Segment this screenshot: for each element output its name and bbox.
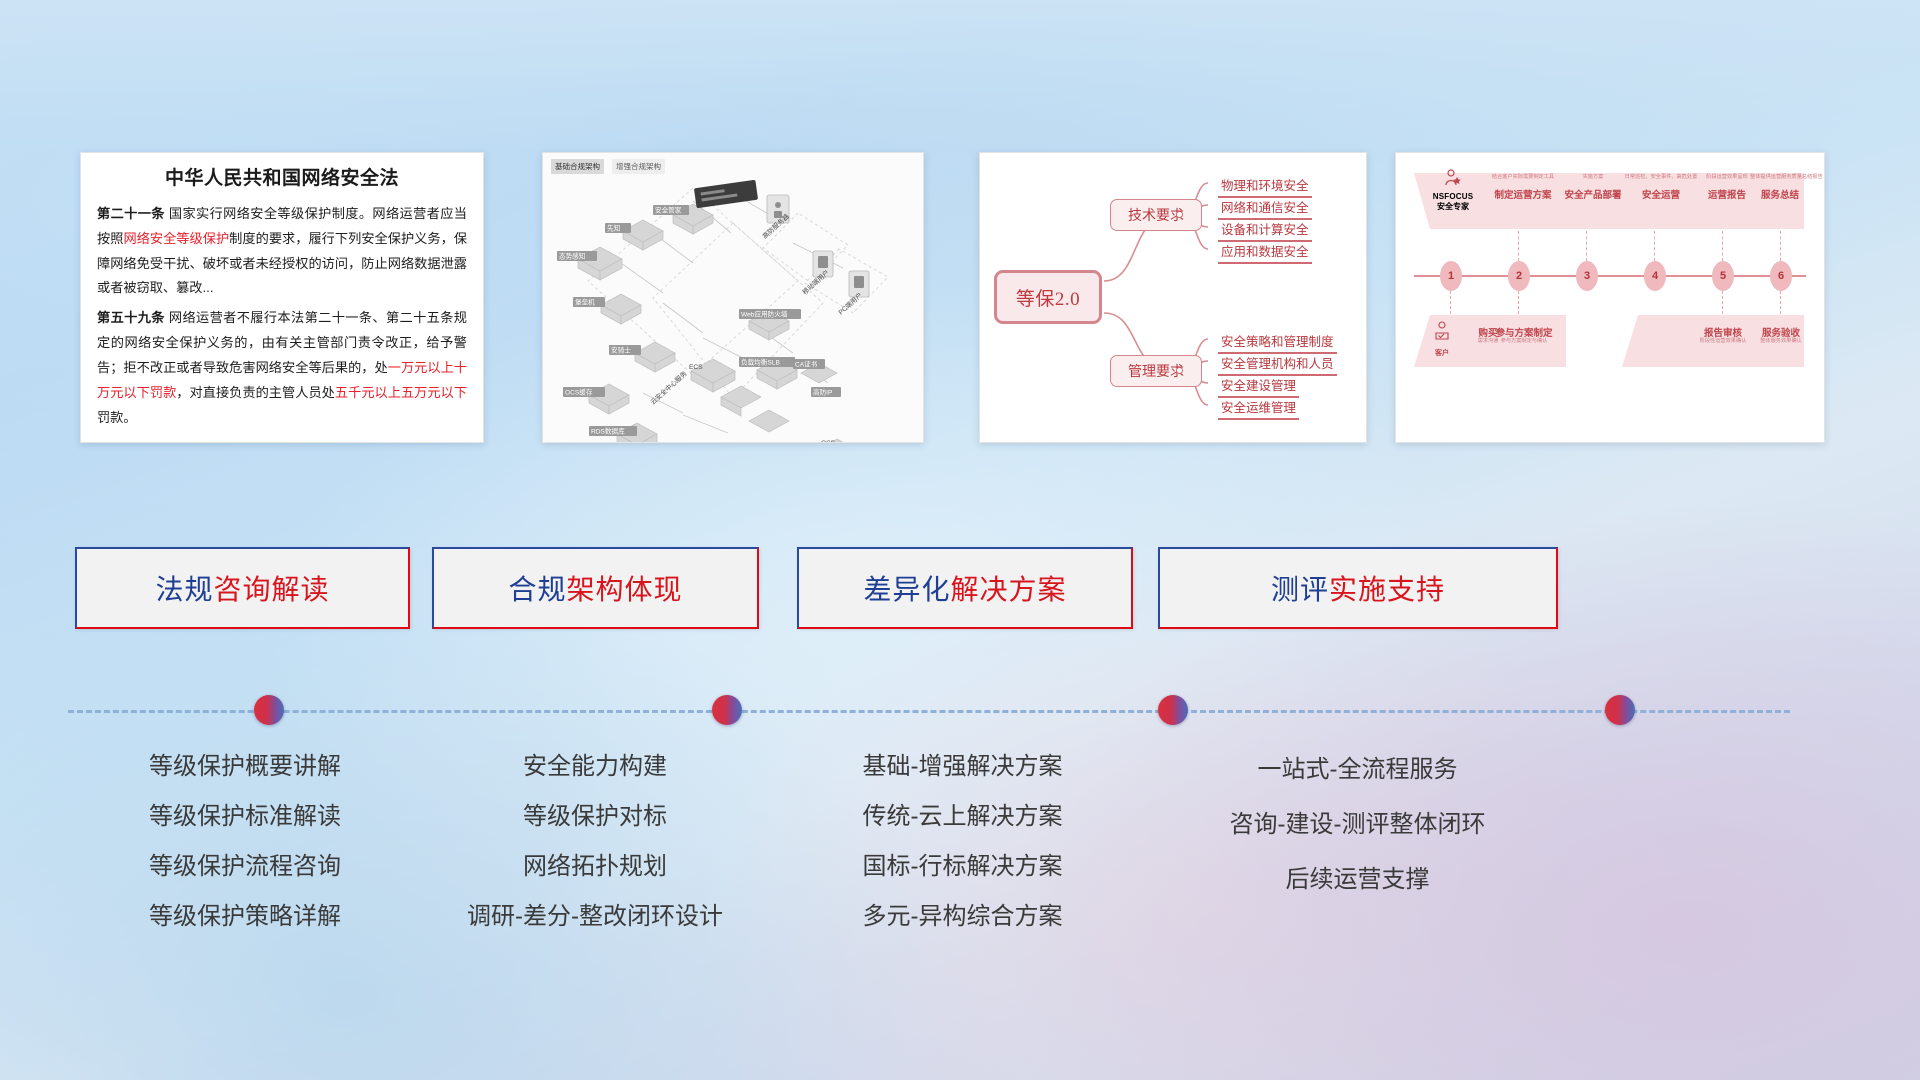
- feature-lists: 等级保护概要讲解 等级保护标准解读 等级保护流程咨询 等级保护策略详解 安全能力…: [0, 742, 1920, 972]
- list-item: 网络拓扑规划: [430, 842, 760, 892]
- mind-map-leaf-t3: 设备和计算安全: [1218, 219, 1312, 242]
- customer-person-icon: [1434, 321, 1450, 341]
- category-title-box-2[interactable]: 合规架构体现: [432, 547, 759, 629]
- list-item: 基础-增强解决方案: [790, 742, 1135, 792]
- nsfocus-top-main-5: 服务总结: [1750, 187, 1810, 201]
- svg-text:OSS: OSS: [821, 440, 836, 443]
- nsfocus-conn-b3: [1722, 291, 1723, 319]
- nsfocus-conn-b1: [1450, 291, 1451, 319]
- category-title-box-4[interactable]: 测评实施支持: [1158, 547, 1558, 629]
- category-title-2: 合规架构体现: [508, 568, 682, 608]
- nsfocus-top-step-1: 结合客户实际需要制定工具 制定运营方案: [1486, 175, 1560, 201]
- nsfocus-bottom-main-2: 参与方案制定: [1488, 325, 1560, 339]
- list-item: 等级保护策略详解: [75, 892, 415, 942]
- svg-text:RDS数据库: RDS数据库: [591, 427, 625, 436]
- law-article-label-2: 第五十九条: [97, 310, 165, 325]
- mind-map-node-dot-management[interactable]: [1176, 367, 1183, 374]
- category-title-2-blue: 合规: [508, 574, 566, 605]
- nsfocus-top-main-3: 安全运营: [1624, 187, 1698, 201]
- feature-list-4: 一站式-全流程服务 咨询-建设-测评整体闭环 后续运营支撑: [1155, 742, 1560, 907]
- law-seg-2-2: ，对直接负责的主管人员处: [176, 385, 335, 400]
- svg-text:高防IP: 高防IP: [813, 388, 833, 397]
- nsfocus-node-4[interactable]: 4: [1644, 261, 1666, 291]
- mind-map-branch-technical: 技术要求: [1110, 199, 1202, 231]
- mind-map-leaf-t1: 物理和环境安全: [1218, 175, 1312, 198]
- nsfocus-node-5[interactable]: 5: [1712, 261, 1734, 291]
- list-item: 等级保护对标: [430, 792, 760, 842]
- svg-text:云安全中心服务: 云安全中心服务: [648, 369, 689, 407]
- background-sheen: [0, 0, 1920, 150]
- cloud-architecture-diagram: 基础合规架构 增强合规架构: [543, 153, 923, 442]
- list-item: 咨询-建设-测评整体闭环: [1155, 797, 1560, 852]
- nsfocus-bottom-main-3: 报告审核: [1692, 325, 1754, 339]
- mind-map-card[interactable]: 等保2.0 技术要求 物理和环境安全 网络和通信安全 设备和计算安全 应用和数据…: [979, 152, 1367, 443]
- list-item: 多元-异构综合方案: [790, 892, 1135, 942]
- law-card[interactable]: 中华人民共和国网络安全法 第二十一条 国家实行网络安全等级保护制度。网络运营者应…: [80, 152, 484, 443]
- mind-map-leaf-m3: 安全建设管理: [1218, 375, 1299, 398]
- timeline-dot-4[interactable]: [1605, 695, 1635, 725]
- nsfocus-brand: NSFOCUS: [1422, 192, 1484, 201]
- nsfocus-top-main-2: 安全产品部署: [1556, 187, 1630, 201]
- nsfocus-bottom-sub-4: 整体服务效果确认: [1752, 339, 1810, 345]
- category-title-row: 法规咨询解读 合规架构体现 差异化解决方案 测评实施支持: [0, 547, 1920, 629]
- nsfocus-timeline-card[interactable]: NSFOCUS 安全专家 结合客户实际需要制定工具 制定运营方案 实施方案 安全…: [1395, 152, 1825, 443]
- nsfocus-customer-role: 客户: [1420, 348, 1464, 358]
- list-item: 等级保护流程咨询: [75, 842, 415, 892]
- nsfocus-conn-b2: [1518, 291, 1519, 319]
- nsfocus-conn-5: [1722, 231, 1723, 261]
- law-article-label-1: 第二十一条: [97, 206, 165, 221]
- feature-list-1: 等级保护概要讲解 等级保护标准解读 等级保护流程咨询 等级保护策略详解: [75, 742, 415, 942]
- mind-map-node-dot-technical[interactable]: [1176, 211, 1183, 218]
- nsfocus-node-2[interactable]: 2: [1508, 261, 1530, 291]
- nsfocus-bottom-main-4: 服务验收: [1752, 325, 1810, 339]
- svg-text:堡垒机: 堡垒机: [575, 298, 595, 307]
- list-item: 安全能力构建: [430, 742, 760, 792]
- nsfocus-conn-3: [1586, 231, 1587, 261]
- law-seg-1-1: 网络安全等级保护: [123, 231, 229, 246]
- law-paragraph-2: 第五十九条 网络运营者不履行本法第二十一条、第二十五条规定的网络安全保护义务的，…: [97, 306, 467, 430]
- nsfocus-top-step-5: 整体提供运营服务质量总结报告 服务总结: [1750, 175, 1810, 201]
- mind-map-leaf-m4: 安全运维管理: [1218, 397, 1299, 420]
- list-item: 后续运营支撑: [1155, 852, 1560, 907]
- mind-map-leaf-m2: 安全管理机构和人员: [1218, 353, 1337, 376]
- nsfocus-node-3[interactable]: 3: [1576, 261, 1598, 291]
- mind-map-branch-management: 管理要求: [1110, 355, 1202, 387]
- nsfocus-bottom-step-2: 参与方案制定 参与方案制定与确认: [1488, 323, 1560, 345]
- category-title-4-blue: 测评: [1271, 574, 1329, 605]
- mind-map-root: 等保2.0: [994, 270, 1102, 324]
- svg-text:CA证书: CA证书: [795, 360, 818, 369]
- timeline-dot-1[interactable]: [254, 695, 284, 725]
- list-item: 等级保护标准解读: [75, 792, 415, 842]
- architecture-svg: 态势感知 先知 安全管家 堡垒机 安骑士 OCS缓存 RDS数据库 数据库审计 …: [543, 153, 924, 443]
- law-paragraph-1: 第二十一条 国家实行网络安全等级保护制度。网络运营者应当按照网络安全等级保护制度…: [97, 202, 467, 301]
- expert-person-icon: [1444, 169, 1462, 187]
- timeline-dot-2[interactable]: [712, 695, 742, 725]
- nsfocus-expert-label: NSFOCUS 安全专家: [1422, 169, 1484, 212]
- nsfocus-top-step-3: 日常巡检、安全事件、高危处置 安全运营: [1624, 175, 1698, 201]
- mind-map-leaf-t4: 应用和数据安全: [1218, 241, 1312, 264]
- nsfocus-top-main-1: 制定运营方案: [1486, 187, 1560, 201]
- category-title-3-blue: 差异化: [863, 574, 950, 605]
- category-title-4: 测评实施支持: [1271, 568, 1445, 608]
- nsfocus-conn-2: [1518, 231, 1519, 261]
- nsfocus-conn-6: [1780, 231, 1781, 261]
- list-item: 等级保护概要讲解: [75, 742, 415, 792]
- nsfocus-conn-4: [1654, 231, 1655, 261]
- svg-text:负载均衡SLB: 负载均衡SLB: [741, 358, 780, 367]
- nsfocus-top-sub-3: 日常巡检、安全事件、高危处置: [1624, 175, 1698, 181]
- nsfocus-bottom-step-4: 服务验收 整体服务效果确认: [1752, 323, 1810, 345]
- svg-text:Web应用防火墙: Web应用防火墙: [741, 310, 788, 319]
- category-title-3-red: 解决方案: [951, 574, 1067, 605]
- nsfocus-customer-label: 客户: [1420, 321, 1464, 358]
- nsfocus-bottom-sub-2: 参与方案制定与确认: [1488, 339, 1560, 345]
- nsfocus-node-1[interactable]: 1: [1440, 261, 1462, 291]
- nsfocus-top-step-2: 实施方案 安全产品部署: [1556, 175, 1630, 201]
- cloud-architecture-card[interactable]: 基础合规架构 增强合规架构: [542, 152, 924, 443]
- mind-map-leaf-t2: 网络和通信安全: [1218, 197, 1312, 220]
- nsfocus-bottom-step-3: 报告审核 阶段性运营效果确认: [1692, 323, 1754, 345]
- list-item: 调研-差分-整改闭环设计: [430, 892, 760, 942]
- svg-text:安骑士: 安骑士: [611, 346, 631, 355]
- category-title-box-3[interactable]: 差异化解决方案: [797, 547, 1133, 629]
- nsfocus-top-sub-5: 整体提供运营服务质量总结报告: [1750, 175, 1810, 181]
- law-seg-2-3: 五千元以上五万元以下: [335, 385, 467, 400]
- category-title-box-1[interactable]: 法规咨询解读: [75, 547, 410, 629]
- law-content: 中华人民共和国网络安全法 第二十一条 国家实行网络安全等级保护制度。网络运营者应…: [81, 153, 483, 430]
- svg-text:先知: 先知: [607, 224, 620, 233]
- nsfocus-top-sub-2: 实施方案: [1556, 175, 1630, 181]
- category-title-1-red: 咨询解读: [214, 574, 330, 605]
- nsfocus-node-6[interactable]: 6: [1770, 261, 1792, 291]
- timeline-dot-3[interactable]: [1158, 695, 1188, 725]
- svg-text:OCS缓存: OCS缓存: [565, 388, 593, 397]
- nsfocus-expert-role: 安全专家: [1422, 201, 1484, 212]
- illustration-cards: 中华人民共和国网络安全法 第二十一条 国家实行网络安全等级保护制度。网络运营者应…: [0, 152, 1920, 447]
- nsfocus-axis: [1414, 275, 1806, 277]
- list-item: 传统-云上解决方案: [790, 792, 1135, 842]
- nsfocus-top-sub-1: 结合客户实际需要制定工具: [1486, 175, 1560, 181]
- nsfocus-diagram: NSFOCUS 安全专家 结合客户实际需要制定工具 制定运营方案 实施方案 安全…: [1396, 153, 1824, 442]
- nsfocus-conn-b4: [1780, 291, 1781, 319]
- law-seg-2-4: 罚款。: [97, 410, 137, 425]
- nsfocus-bottom-sub-3: 阶段性运营效果确认: [1692, 339, 1754, 345]
- list-item: 国标-行标解决方案: [790, 842, 1135, 892]
- feature-list-2: 安全能力构建 等级保护对标 网络拓扑规划 调研-差分-整改闭环设计: [430, 742, 760, 942]
- list-item: 一站式-全流程服务: [1155, 742, 1560, 797]
- law-title: 中华人民共和国网络安全法: [97, 163, 467, 190]
- svg-text:安全管家: 安全管家: [655, 206, 682, 215]
- mind-map-leaf-m1: 安全策略和管理制度: [1218, 331, 1337, 354]
- mind-map: 等保2.0 技术要求 物理和环境安全 网络和通信安全 设备和计算安全 应用和数据…: [980, 153, 1366, 442]
- category-title-1: 法规咨询解读: [155, 568, 329, 608]
- category-title-2-red: 架构体现: [567, 574, 683, 605]
- category-title-4-red: 实施支持: [1329, 574, 1445, 605]
- timeline: [0, 692, 1920, 732]
- category-title-3: 差异化解决方案: [863, 568, 1066, 608]
- svg-text:ECS: ECS: [689, 364, 703, 371]
- svg-text:态势感知: 态势感知: [559, 252, 585, 261]
- feature-list-3: 基础-增强解决方案 传统-云上解决方案 国标-行标解决方案 多元-异构综合方案: [790, 742, 1135, 942]
- timeline-dashed-line: [68, 710, 1790, 713]
- category-title-1-blue: 法规: [155, 574, 213, 605]
